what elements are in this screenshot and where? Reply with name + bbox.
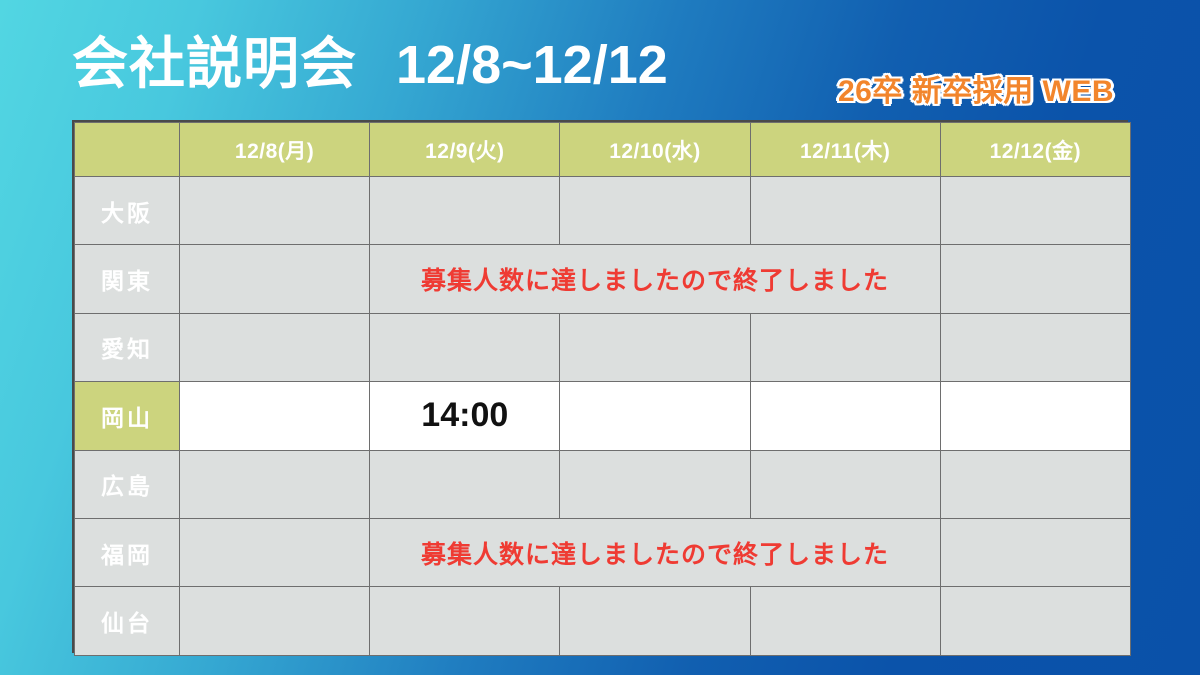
empty-cell (940, 450, 1130, 518)
empty-cell (940, 587, 1130, 655)
empty-cell (750, 382, 940, 450)
table-row: 福岡募集人数に達しましたので終了しました (75, 518, 1131, 586)
empty-cell (180, 587, 370, 655)
row-label-7: 仙台 (75, 587, 180, 655)
column-header-3: 12/10(水) (560, 123, 750, 177)
row-label-6: 福岡 (75, 518, 180, 586)
session-time-cell: 14:00 (370, 382, 560, 450)
empty-cell (750, 313, 940, 381)
empty-cell (940, 245, 1130, 313)
closed-message-cell: 募集人数に達しましたので終了しました (370, 245, 941, 313)
table-row: 広島 (75, 450, 1131, 518)
table-header-row: 12/8(月)12/9(火)12/10(水)12/11(木)12/12(金) (75, 123, 1131, 177)
schedule-table: 12/8(月)12/9(火)12/10(水)12/11(木)12/12(金) 大… (74, 122, 1131, 656)
column-header-2: 12/9(火) (370, 123, 560, 177)
empty-cell (750, 587, 940, 655)
empty-cell (560, 587, 750, 655)
table-row: 愛知 (75, 313, 1131, 381)
empty-cell (940, 382, 1130, 450)
empty-cell (180, 450, 370, 518)
row-label-2: 関東 (75, 245, 180, 313)
empty-cell (370, 177, 560, 245)
row-label-3: 愛知 (75, 313, 180, 381)
table-row: 仙台 (75, 587, 1131, 655)
empty-cell (180, 245, 370, 313)
table-corner-cell (75, 123, 180, 177)
page-header: 会社説明会 12/8~12/12 26卒 新卒採用 WEB (0, 0, 1200, 120)
table-row: 岡山14:00 (75, 382, 1131, 450)
empty-cell (370, 587, 560, 655)
table-row: 大阪 (75, 177, 1131, 245)
empty-cell (750, 177, 940, 245)
empty-cell (180, 518, 370, 586)
empty-cell (560, 382, 750, 450)
closed-message-cell: 募集人数に達しましたので終了しました (370, 518, 941, 586)
row-label-4: 岡山 (75, 382, 180, 450)
empty-cell (940, 518, 1130, 586)
row-label-5: 広島 (75, 450, 180, 518)
empty-cell (180, 177, 370, 245)
recruitment-badge: 26卒 新卒採用 WEB (838, 66, 1114, 110)
column-header-5: 12/12(金) (940, 123, 1130, 177)
row-label-1: 大阪 (75, 177, 180, 245)
date-range-label: 12/8~12/12 (396, 38, 668, 92)
schedule-table-container: 12/8(月)12/9(火)12/10(水)12/11(木)12/12(金) 大… (72, 120, 1128, 653)
empty-cell (180, 313, 370, 381)
column-header-1: 12/8(月) (180, 123, 370, 177)
empty-cell (560, 450, 750, 518)
empty-cell (940, 177, 1130, 245)
empty-cell (180, 382, 370, 450)
page-title: 会社説明会 (72, 36, 357, 92)
empty-cell (370, 313, 560, 381)
table-row: 関東募集人数に達しましたので終了しました (75, 245, 1131, 313)
empty-cell (370, 450, 560, 518)
empty-cell (750, 450, 940, 518)
empty-cell (560, 177, 750, 245)
empty-cell (940, 313, 1130, 381)
column-header-4: 12/11(木) (750, 123, 940, 177)
empty-cell (560, 313, 750, 381)
table-body: 大阪関東募集人数に達しましたので終了しました愛知岡山14:00広島福岡募集人数に… (75, 177, 1131, 656)
